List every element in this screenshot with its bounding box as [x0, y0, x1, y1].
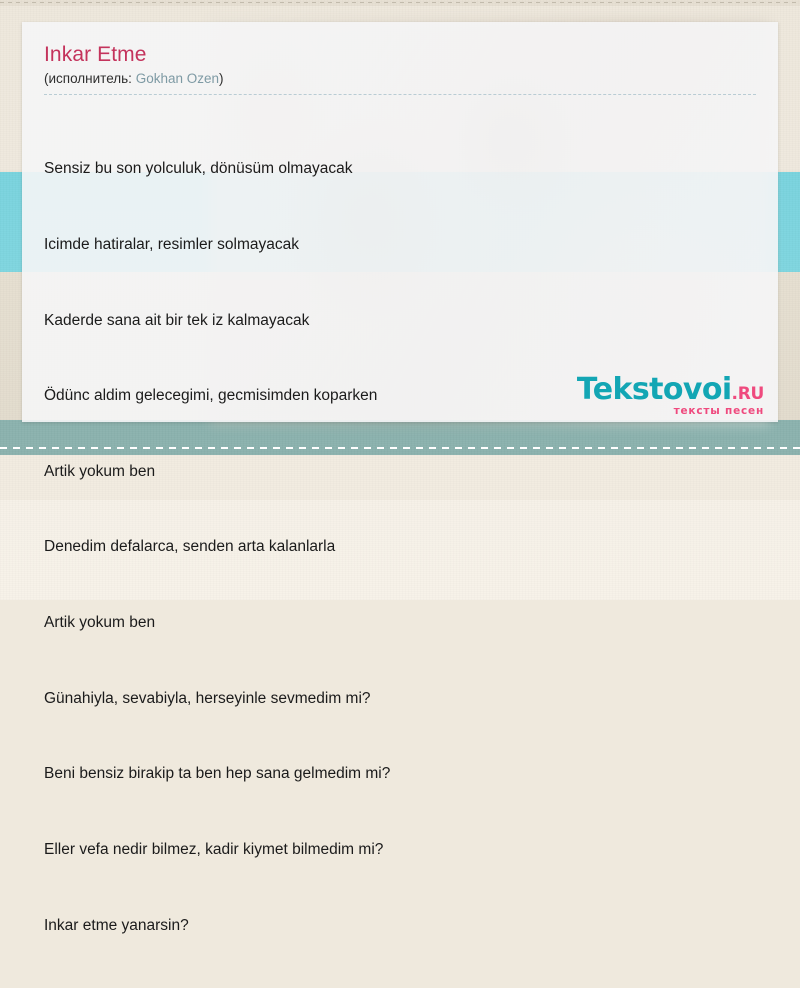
lyrics-card: Inkar Etme (исполнитель: Gokhan Ozen) Se… [22, 22, 778, 422]
lyrics-text: Sensiz bu son yolculuk, dönüsüm olmayaca… [44, 106, 756, 988]
page-background: Inkar Etme (исполнитель: Gokhan Ozen) Se… [0, 0, 800, 600]
lyric-line: Icimde hatiralar, resimler solmayacak [44, 232, 756, 257]
top-divider-rule [0, 2, 800, 3]
lyric-line: Sensiz bu son yolculuk, dönüsüm olmayaca… [44, 156, 756, 181]
watermark-wordmark-row: Tekstovoi.RU [577, 375, 764, 405]
watermark-tld: .RU [732, 384, 764, 404]
artist-link[interactable]: Gokhan Ozen [136, 71, 219, 86]
lyric-line: Artik yokum ben [44, 610, 756, 635]
lyric-line: Inkar etme yanarsin? [44, 913, 756, 938]
watermark-tagline: тексты песен [577, 406, 764, 417]
lyric-line: Günahiyla, sevabiyla, herseyinle sevmedi… [44, 686, 756, 711]
lyric-line: Kaderde sana ait bir tek iz kalmayacak [44, 308, 756, 333]
lyric-line: Beni bensiz birakip ta ben hep sana gelm… [44, 761, 756, 786]
watermark-name: Tekstovoi [577, 372, 732, 407]
lyric-line: Eller vefa nedir bilmez, kadir kiymet bi… [44, 837, 756, 862]
artist-suffix-label: ) [219, 71, 224, 86]
site-watermark-logo: Tekstovoi.RU тексты песен [577, 375, 764, 417]
song-title: Inkar Etme [44, 42, 756, 68]
lyric-line: Artik yokum ben [44, 459, 756, 484]
artist-line: (исполнитель: Gokhan Ozen) [44, 70, 756, 95]
lyric-line: Denedim defalarca, senden arta kalanlarl… [44, 534, 756, 559]
artist-prefix-label: (исполнитель: [44, 71, 136, 86]
